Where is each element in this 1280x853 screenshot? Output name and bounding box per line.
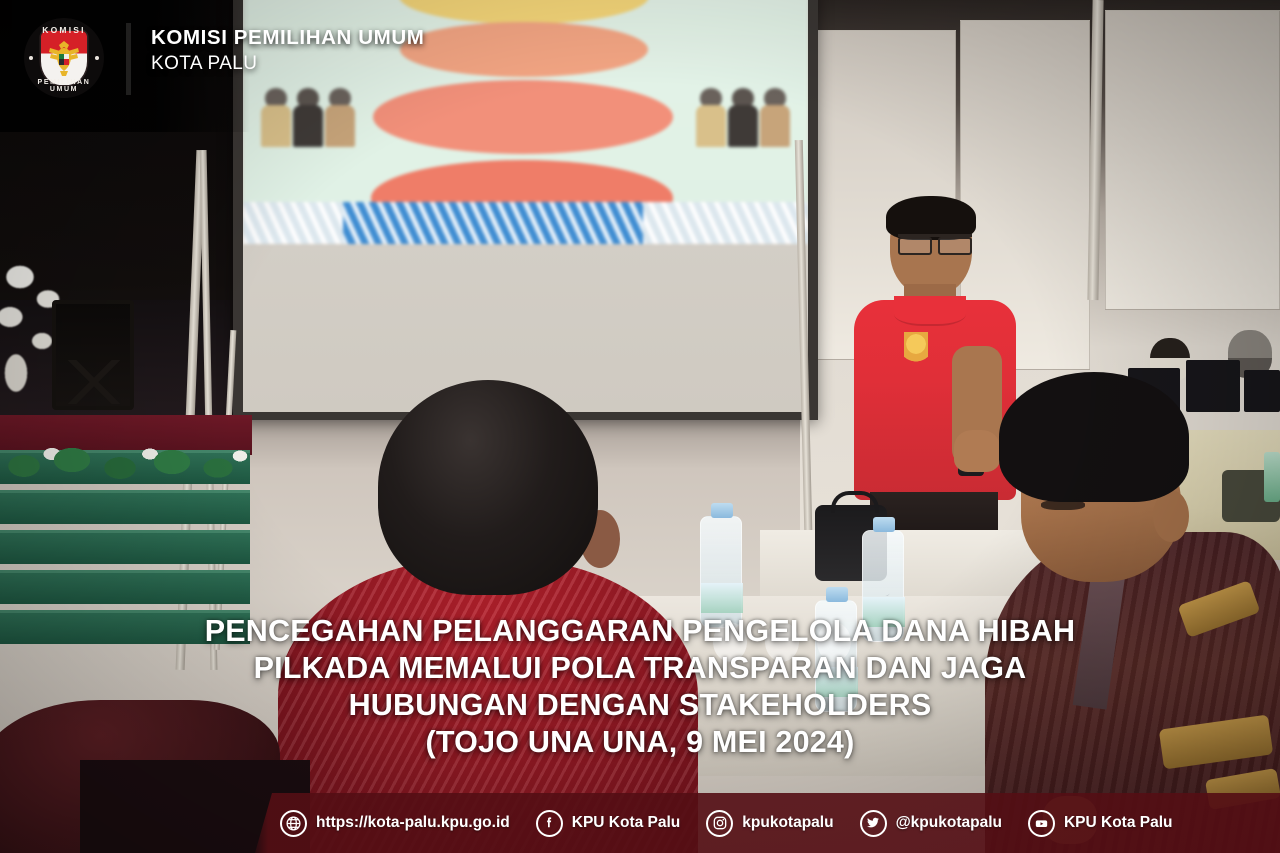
youtube-icon <box>1028 810 1055 837</box>
poster-title: PENCEGAHAN PELANGGARAN PENGELOLA DANA HI… <box>0 613 1280 761</box>
footer-item-instagram[interactable]: kpukotapalu <box>706 810 833 837</box>
logo-word-bottom: PEMILIHAN UMUM <box>24 79 104 93</box>
twitter-label: @kpukotapalu <box>896 814 1002 832</box>
website-label: https://kota-palu.kpu.go.id <box>316 814 510 832</box>
shield-icon <box>41 31 87 85</box>
logo-word-top: KOMISI <box>24 25 104 35</box>
globe-icon <box>280 810 307 837</box>
facebook-label: KPU Kota Palu <box>572 814 681 832</box>
title-line-1: PENCEGAHAN PELANGGARAN PENGELOLA DANA HI… <box>60 613 1220 650</box>
footer-item-facebook[interactable]: KPU Kota Palu <box>536 810 681 837</box>
footer-item-website[interactable]: https://kota-palu.kpu.go.id <box>280 810 510 837</box>
organization-city: KOTA PALU <box>151 53 424 75</box>
logo-dot <box>95 56 99 60</box>
instagram-label: kpukotapalu <box>742 814 833 832</box>
header-text-block: KOMISI PEMILIHAN UMUM KOTA PALU <box>151 18 424 75</box>
organization-name: KOMISI PEMILIHAN UMUM <box>151 26 424 50</box>
garuda-icon <box>46 39 82 77</box>
facebook-icon <box>536 810 563 837</box>
title-line-4: (TOJO UNA UNA, 9 MEI 2024) <box>60 724 1220 761</box>
footer-contact-list: https://kota-palu.kpu.go.id KPU Kota Pal… <box>0 793 1280 853</box>
poster-canvas: KOMISI PEMILIHAN UMUM KOMISI PEMILIHAN U… <box>0 0 1280 853</box>
title-line-2: PILKADA MEMALUI POLA TRANSPARAN DAN JAGA <box>60 650 1220 687</box>
kpu-logo: KOMISI PEMILIHAN UMUM <box>24 18 104 98</box>
twitter-icon <box>860 810 887 837</box>
instagram-icon <box>706 810 733 837</box>
poster-header: KOMISI PEMILIHAN UMUM KOMISI PEMILIHAN U… <box>0 0 1280 132</box>
poster-footer: https://kota-palu.kpu.go.id KPU Kota Pal… <box>0 793 1280 853</box>
footer-item-twitter[interactable]: @kpukotapalu <box>860 810 1002 837</box>
footer-item-youtube[interactable]: KPU Kota Palu <box>1028 810 1173 837</box>
title-line-3: HUBUNGAN DENGAN STAKEHOLDERS <box>60 687 1220 724</box>
logo-dot <box>29 56 33 60</box>
youtube-label: KPU Kota Palu <box>1064 814 1173 832</box>
